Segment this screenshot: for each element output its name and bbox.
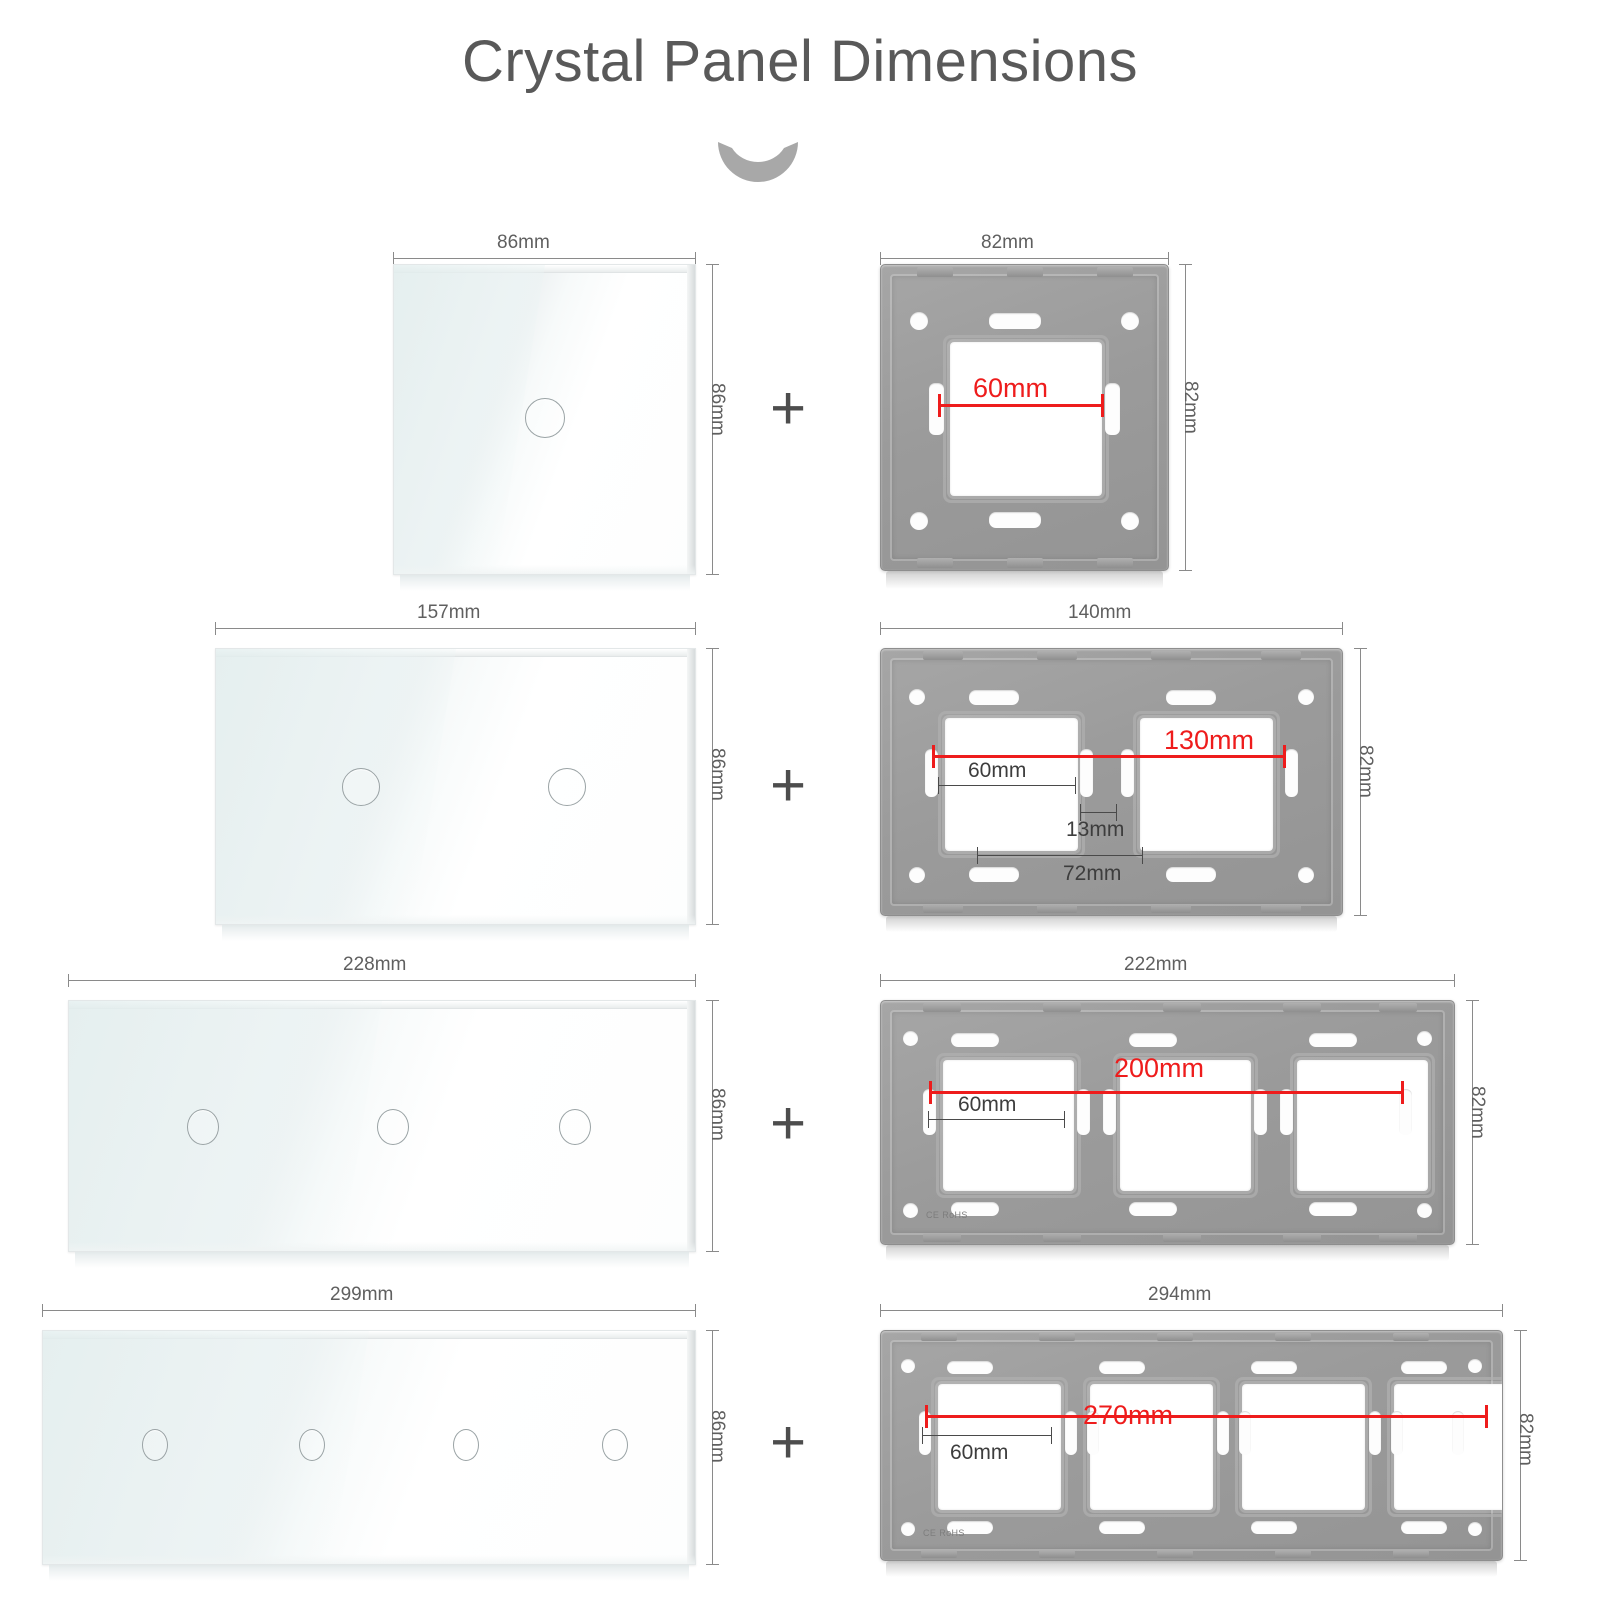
row4-panel-shadow <box>49 1565 689 1581</box>
row1-panel-width-label: 86mm <box>497 232 550 254</box>
row3-frame-width-label: 222mm <box>1124 954 1187 976</box>
row2-panel-shadow <box>222 925 689 941</box>
screw-hole <box>1417 1031 1432 1046</box>
glass-bevel-right <box>687 265 695 574</box>
mounting-slot <box>951 1033 999 1047</box>
frame-tab <box>1007 558 1043 568</box>
mounting-slot <box>969 690 1019 705</box>
screw-hole <box>909 689 925 705</box>
glass-reflection <box>43 1555 695 1565</box>
fixing-slot <box>1280 1089 1293 1135</box>
fixing-slot <box>1285 749 1298 797</box>
row1-plus-separator: + <box>770 378 806 440</box>
glass-reflection <box>69 1242 695 1252</box>
row4-plus-separator: + <box>770 1412 806 1474</box>
screw-hole <box>909 867 925 883</box>
row3-frame-width-line <box>880 980 1455 981</box>
row1-panel-height-label: 86mm <box>706 383 728 436</box>
frame-tab <box>921 1550 957 1558</box>
row3-frame-60mm-line <box>928 1119 1065 1120</box>
screw-hole <box>1417 1203 1432 1218</box>
frame-tab <box>1283 1233 1321 1242</box>
row1-frame-inner-60mm-label: 60mm <box>973 373 1048 404</box>
frame-tab <box>1151 904 1191 913</box>
glass-bevel-top <box>43 1331 695 1339</box>
row2-frame-height-label: 82mm <box>1354 745 1376 798</box>
frame-tab <box>1037 904 1077 913</box>
row3-mounting-frame: CE RoHS <box>880 1000 1455 1245</box>
mounting-slot <box>1401 1521 1447 1534</box>
row2-plus-separator: + <box>770 755 806 817</box>
frame-tab <box>1379 1003 1417 1012</box>
fixing-slot <box>1077 1089 1090 1135</box>
touch-button-1[interactable] <box>342 768 380 806</box>
row3-panel-height-label: 86mm <box>706 1088 728 1141</box>
frame-tab <box>1393 1333 1429 1341</box>
glass-bevel-right <box>687 1001 695 1251</box>
frame-tab <box>1283 1003 1321 1012</box>
row4-frame-height-label: 82mm <box>1514 1413 1536 1466</box>
mounting-slot <box>1129 1033 1177 1047</box>
screw-hole <box>1298 689 1314 705</box>
mounting-slot <box>1166 690 1216 705</box>
screw-hole <box>1121 512 1139 530</box>
mounting-slot <box>1309 1202 1357 1216</box>
row3-frame-200mm-label: 200mm <box>1114 1053 1204 1084</box>
touch-button-4[interactable] <box>602 1429 628 1461</box>
row2-frame-width-label: 140mm <box>1068 602 1131 624</box>
row4-frame-60mm-line <box>922 1435 1052 1436</box>
row4-panel-width-label: 299mm <box>330 1284 393 1306</box>
touch-button-2[interactable] <box>377 1109 409 1145</box>
fixing-slot <box>929 383 944 435</box>
page-title: Crystal Panel Dimensions <box>0 28 1600 95</box>
row4-frame-60mm-label: 60mm <box>950 1441 1008 1465</box>
row1-frame-height-label: 82mm <box>1179 381 1201 434</box>
frame-tab <box>923 1003 961 1012</box>
frame-tab <box>1275 1550 1311 1558</box>
frame-tab <box>1261 651 1301 660</box>
touch-button-3[interactable] <box>453 1429 479 1461</box>
mounting-slot <box>1129 1202 1177 1216</box>
row4-frame-shadow <box>886 1561 1497 1577</box>
touch-button-1[interactable] <box>525 398 565 438</box>
frame-cutout-4 <box>1394 1384 1503 1510</box>
row3-frame-shadow <box>886 1245 1449 1261</box>
frame-cutout-1 <box>950 342 1102 496</box>
screw-hole <box>901 1522 915 1536</box>
row2-frame-72mm-label: 72mm <box>1063 862 1121 886</box>
fixing-slot <box>1254 1089 1267 1135</box>
frame-tab <box>917 558 953 568</box>
frame-cutout-1 <box>943 1060 1074 1191</box>
mounting-slot <box>1309 1033 1357 1047</box>
row1-panel-shadow <box>400 575 690 591</box>
frame-tab <box>917 267 953 277</box>
mounting-slot <box>1251 1361 1297 1374</box>
mounting-slot <box>947 1361 993 1374</box>
row2-frame-13mm-label: 13mm <box>1066 818 1124 842</box>
glass-bevel-top <box>69 1001 695 1009</box>
frame-tab <box>1097 558 1133 568</box>
row3-glass-panel <box>68 1000 696 1252</box>
glass-sheen <box>68 1001 382 1251</box>
touch-button-2[interactable] <box>548 768 586 806</box>
row2-frame-72mm-line <box>977 855 1143 856</box>
row2-frame-width-line <box>880 628 1343 629</box>
mounting-slot <box>1166 867 1216 882</box>
screw-hole <box>910 312 928 330</box>
row1-frame-inner-60mm-line <box>938 404 1104 407</box>
frame-tab <box>923 1233 961 1242</box>
mounting-slot <box>1251 1521 1297 1534</box>
mounting-slot <box>989 512 1041 528</box>
mounting-slot <box>1401 1361 1447 1374</box>
frame-tab <box>1157 1550 1193 1558</box>
frame-tab <box>1097 267 1133 277</box>
screw-hole <box>1298 867 1314 883</box>
row1-frame-shadow <box>886 571 1163 589</box>
row3-panel-width-line <box>68 980 696 981</box>
fixing-slot <box>1105 383 1120 435</box>
frame-tab <box>1043 1233 1081 1242</box>
frame-tab <box>1163 1003 1201 1012</box>
glass-reflection <box>216 915 695 925</box>
row4-panel-width-line <box>42 1310 696 1311</box>
frame-tab <box>923 904 963 913</box>
mounting-slot <box>1099 1361 1145 1374</box>
mounting-slot <box>969 867 1019 882</box>
row2-panel-width-label: 157mm <box>417 602 480 624</box>
row3-panel-shadow <box>75 1252 689 1268</box>
row4-frame-270mm-line <box>925 1415 1488 1418</box>
screw-hole <box>910 512 928 530</box>
frame-tab <box>1157 1333 1193 1341</box>
touch-button-3[interactable] <box>559 1109 591 1145</box>
row4-glass-panel <box>42 1330 696 1565</box>
frame-cutout-3 <box>1242 1384 1365 1510</box>
screw-hole <box>1468 1522 1482 1536</box>
frame-tab <box>1043 1003 1081 1012</box>
frame-tab <box>1037 651 1077 660</box>
glass-reflection <box>394 565 695 575</box>
row2-frame-60mm-label: 60mm <box>968 759 1026 783</box>
fixing-slot <box>1103 1089 1116 1135</box>
frame-tab <box>1039 1550 1075 1558</box>
frame-tab <box>1163 1233 1201 1242</box>
frame-tab <box>921 1333 957 1341</box>
row1-frame-width-label: 82mm <box>981 232 1034 254</box>
mounting-slot <box>1099 1521 1145 1534</box>
ce-rohs-mark: CE RoHS <box>926 1210 968 1220</box>
row2-frame-13mm-line <box>1080 812 1117 813</box>
row2-panel-height-label: 86mm <box>706 748 728 801</box>
row1-mounting-frame <box>880 264 1169 571</box>
arc-decoration <box>716 138 800 186</box>
row1-panel-width-line <box>393 258 696 259</box>
row2-frame-130mm-label: 130mm <box>1164 725 1254 756</box>
screw-hole <box>903 1203 918 1218</box>
row2-panel-width-line <box>215 628 696 629</box>
row3-frame-height-label: 82mm <box>1466 1086 1488 1139</box>
row1-frame-width-line <box>880 258 1169 259</box>
frame-tab <box>923 651 963 660</box>
row4-frame-width-label: 294mm <box>1148 1284 1211 1306</box>
mounting-slot <box>989 313 1041 329</box>
row2-glass-panel <box>215 648 696 925</box>
frame-tab <box>1007 267 1043 277</box>
touch-button-1[interactable] <box>142 1429 168 1461</box>
frame-tab <box>1393 1550 1429 1558</box>
screw-hole <box>901 1359 915 1373</box>
row4-panel-height-label: 86mm <box>706 1410 728 1463</box>
row2-frame-60mm-line <box>938 785 1076 786</box>
row2-frame-shadow <box>886 916 1337 932</box>
touch-button-1[interactable] <box>187 1109 219 1145</box>
row3-frame-60mm-label: 60mm <box>958 1093 1016 1117</box>
glass-bevel-right <box>687 649 695 924</box>
row3-panel-width-label: 228mm <box>343 954 406 976</box>
frame-tab <box>1379 1233 1417 1242</box>
glass-bevel-right <box>687 1331 695 1564</box>
glass-bevel-top <box>216 649 695 657</box>
screw-hole <box>1121 312 1139 330</box>
row4-frame-width-line <box>880 1310 1503 1311</box>
glass-bevel-top <box>394 265 695 273</box>
row4-frame-270mm-label: 270mm <box>1083 1400 1173 1431</box>
row1-glass-panel <box>393 264 696 575</box>
screw-hole <box>903 1031 918 1046</box>
frame-tab <box>1151 651 1191 660</box>
glass-sheen <box>393 265 545 574</box>
touch-button-2[interactable] <box>299 1429 325 1461</box>
screw-hole <box>1468 1359 1482 1373</box>
ce-rohs-mark: CE RoHS <box>923 1528 965 1538</box>
row3-plus-separator: + <box>770 1093 806 1155</box>
frame-tab <box>1039 1333 1075 1341</box>
frame-tab <box>1261 904 1301 913</box>
frame-tab <box>1275 1333 1311 1341</box>
glass-sheen <box>215 649 456 924</box>
